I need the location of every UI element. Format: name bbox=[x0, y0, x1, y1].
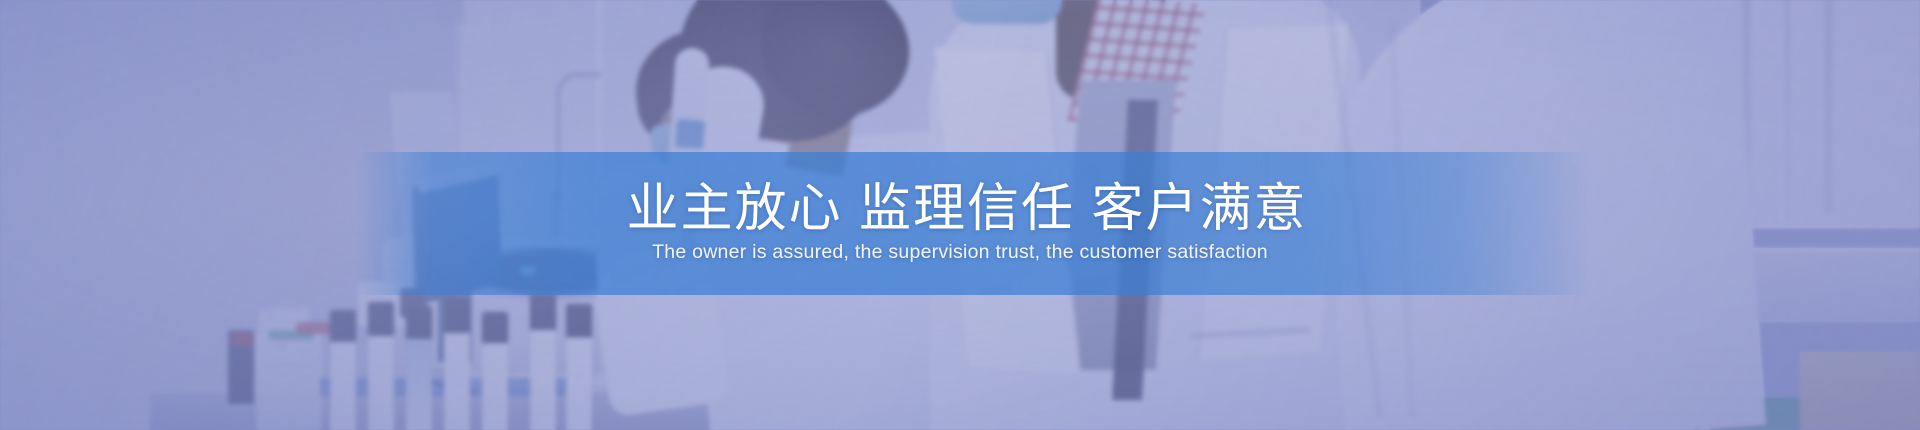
slogan-subline-english: The owner is assured, the supervision tr… bbox=[652, 241, 1268, 264]
hero-banner: 业主放心 监理信任 客户满意 The owner is assured, the… bbox=[0, 0, 1920, 430]
slogan-headline-chinese: 业主放心 监理信任 客户满意 bbox=[613, 183, 1308, 236]
slogan-text-block: 业主放心 监理信任 客户满意 The owner is assured, the… bbox=[0, 152, 1920, 295]
